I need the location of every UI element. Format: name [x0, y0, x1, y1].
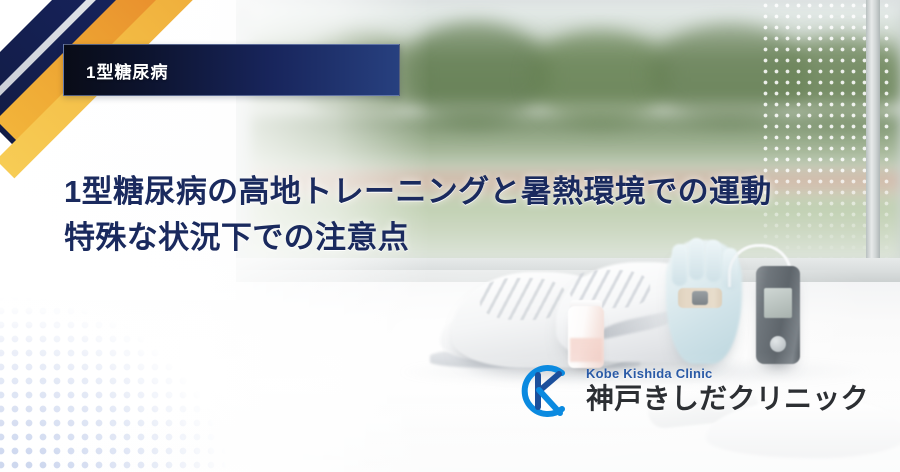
clinic-logo: Kobe Kishida Clinic 神戸きしだクリニック: [512, 361, 869, 421]
page-title-line-2: 特殊な状況下での注意点: [64, 215, 864, 261]
clinic-name-english: Kobe Kishida Clinic: [586, 367, 869, 381]
shoe-laces: [480, 278, 566, 320]
cgm-sensor-pad: [692, 291, 708, 305]
clinic-logo-k-circle-icon: [512, 361, 576, 421]
category-badge-label: 1型糖尿病: [64, 58, 169, 83]
clinic-logo-text: Kobe Kishida Clinic 神戸きしだクリニック: [586, 367, 869, 415]
category-badge: 1型糖尿病: [63, 44, 400, 96]
window-mullion: [866, 0, 880, 284]
page-title: 1型糖尿病の高地トレーニングと暑熱環境での運動 特殊な状況下での注意点: [64, 169, 864, 261]
clinic-name-japanese: 神戸きしだクリニック: [586, 383, 869, 414]
insulin-pump-button: [770, 336, 786, 352]
halftone-dot-decoration: [0, 248, 234, 472]
tree-blob: [530, 30, 670, 126]
banner-canvas: 1型糖尿病 1型糖尿病の高地トレーニングと暑熱環境での運動 特殊な状況下での注意…: [0, 0, 900, 472]
insulin-pump-screen: [764, 288, 792, 318]
page-title-line-1: 1型糖尿病の高地トレーニングと暑熱環境での運動: [64, 169, 864, 215]
